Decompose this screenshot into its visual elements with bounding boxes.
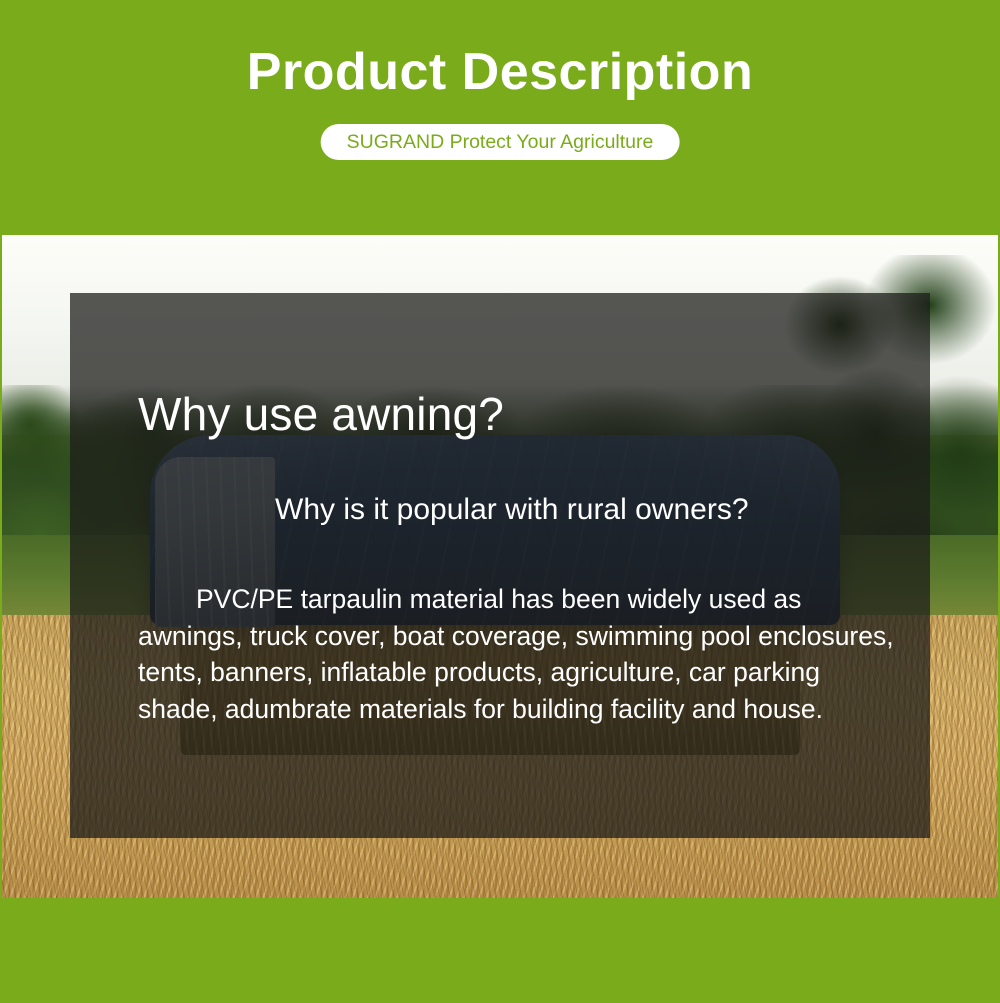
text-overlay-panel: Why use awning? Why is it popular with r… <box>70 293 930 838</box>
heading-why-popular: Why is it popular with rural owners? <box>275 493 749 528</box>
page-title: Product Description <box>0 44 1000 100</box>
hero-photo: Why use awning? Why is it popular with r… <box>0 235 1000 898</box>
product-description-page: Product Description SUGRAND Protect Your… <box>0 0 1000 1003</box>
heading-why-use-awning: Why use awning? <box>138 389 504 440</box>
footer-banner <box>0 898 1000 1003</box>
brand-tagline-badge: SUGRAND Protect Your Agriculture <box>321 124 680 160</box>
left-page-edge <box>0 235 2 898</box>
description-paragraph: PVC/PE tarpaulin material has been widel… <box>138 581 898 727</box>
header-banner: Product Description SUGRAND Protect Your… <box>0 0 1000 235</box>
